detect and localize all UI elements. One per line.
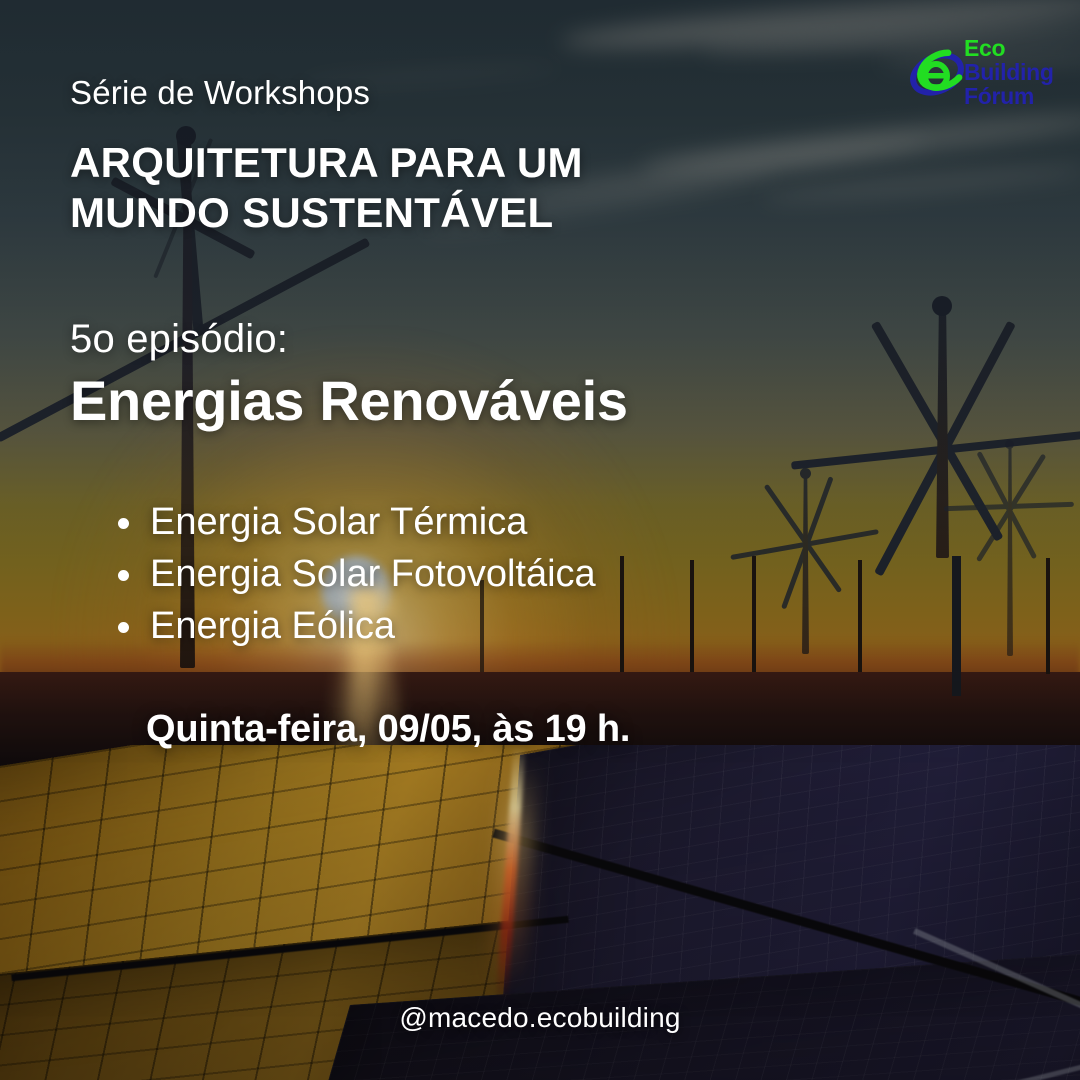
social-handle[interactable]: @macedo.ecobuilding xyxy=(0,1002,1080,1034)
brand-word-eco: Eco xyxy=(964,36,1054,60)
poster-content: Série de Workshops ARQUITETURA PARA UM M… xyxy=(0,0,1080,1080)
brand-logo[interactable]: Eco Building Fórum xyxy=(906,32,1066,118)
list-item: Energia Eólica xyxy=(112,600,596,652)
poster-canvas: Série de Workshops ARQUITETURA PARA UM M… xyxy=(0,0,1080,1080)
brand-wordmark: Eco Building Fórum xyxy=(964,36,1054,108)
topic-list: Energia Solar Térmica Energia Solar Foto… xyxy=(112,496,596,652)
brand-word-forum: Fórum xyxy=(964,84,1054,108)
topic-label: Energia Solar Térmica xyxy=(150,501,527,543)
topic-label: Energia Eólica xyxy=(150,605,395,647)
eco-e-swoosh-icon xyxy=(906,38,968,108)
episode-number: 5o episódio: xyxy=(70,317,288,362)
bullet-dot-icon xyxy=(118,622,129,633)
episode-title: Energias Renováveis xyxy=(70,368,628,433)
bullet-dot-icon xyxy=(118,570,129,581)
page-title: ARQUITETURA PARA UM MUNDO SUSTENTÁVEL xyxy=(70,138,583,238)
bullet-dot-icon xyxy=(118,518,129,529)
headline-line-1: ARQUITETURA PARA UM xyxy=(70,138,583,188)
brand-word-building: Building xyxy=(964,60,1054,84)
topic-label: Energia Solar Fotovoltáica xyxy=(150,553,596,595)
series-kicker: Série de Workshops xyxy=(70,74,370,112)
list-item: Energia Solar Fotovoltáica xyxy=(112,548,596,600)
list-item: Energia Solar Térmica xyxy=(112,496,596,548)
headline-line-2: MUNDO SUSTENTÁVEL xyxy=(70,188,583,238)
event-datetime: Quinta-feira, 09/05, às 19 h. xyxy=(146,708,630,751)
